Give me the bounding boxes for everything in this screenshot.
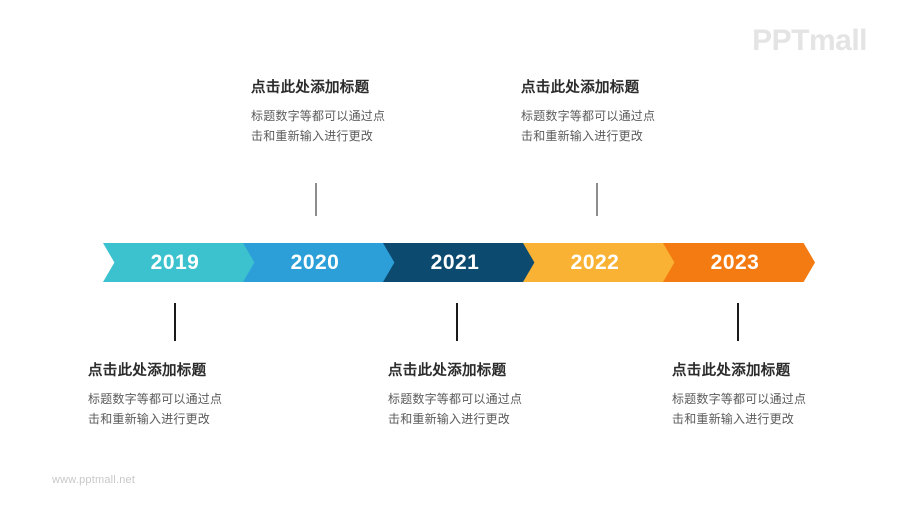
callout-bottom-1: 点击此处添加标题 标题数字等都可以通过点 击和重新输入进行更改 [88, 362, 303, 430]
timeline-bar: 2019 2020 2021 2022 2023 [103, 243, 812, 282]
callout-bottom-3-title: 点击此处添加标题 [672, 362, 887, 382]
callout-bottom-1-title: 点击此处添加标题 [88, 362, 303, 382]
callout-bottom-3: 点击此处添加标题 标题数字等都可以通过点 击和重新输入进行更改 [672, 362, 887, 430]
callout-bottom-2-line2: 击和重新输入进行更改 [388, 409, 603, 430]
callout-top-2: 点击此处添加标题 标题数字等都可以通过点 击和重新输入进行更改 [521, 79, 736, 147]
timeline-segment-2019-label: 2019 [151, 251, 200, 275]
timeline-segment-2023-label: 2023 [711, 251, 760, 275]
callout-bottom-3-line2: 击和重新输入进行更改 [672, 409, 887, 430]
connector-line-top-1 [315, 183, 317, 216]
connector-line-bottom-2 [456, 303, 458, 341]
logo-prefix-text: PPT [752, 24, 809, 57]
connector-line-top-2 [596, 183, 598, 216]
connector-line-bottom-3 [737, 303, 739, 341]
callout-bottom-3-line1: 标题数字等都可以通过点 [672, 389, 887, 410]
callout-bottom-1-line2: 击和重新输入进行更改 [88, 409, 303, 430]
callout-top-1-line2: 击和重新输入进行更改 [251, 126, 466, 147]
callout-top-1-line1: 标题数字等都可以通过点 [251, 106, 466, 127]
callout-top-2-line1: 标题数字等都可以通过点 [521, 106, 736, 127]
callout-bottom-2-title: 点击此处添加标题 [388, 362, 603, 382]
timeline-segment-2020[interactable]: 2020 [243, 243, 395, 282]
timeline-segment-2019[interactable]: 2019 [103, 243, 255, 282]
callout-top-1: 点击此处添加标题 标题数字等都可以通过点 击和重新输入进行更改 [251, 79, 466, 147]
callout-bottom-2: 点击此处添加标题 标题数字等都可以通过点 击和重新输入进行更改 [388, 362, 603, 430]
timeline-segment-2020-label: 2020 [291, 251, 340, 275]
callout-top-2-title: 点击此处添加标题 [521, 79, 736, 99]
timeline-segment-2021[interactable]: 2021 [383, 243, 535, 282]
timeline-segment-2022[interactable]: 2022 [523, 243, 675, 282]
logo-suffix-text: mall [809, 24, 867, 57]
callout-top-1-title: 点击此处添加标题 [251, 79, 466, 99]
connector-line-bottom-1 [174, 303, 176, 341]
callout-bottom-1-line1: 标题数字等都可以通过点 [88, 389, 303, 410]
footer-url: www.pptmall.net [52, 474, 135, 486]
timeline-segment-2022-label: 2022 [571, 251, 620, 275]
timeline-segment-2021-label: 2021 [431, 251, 480, 275]
pptmall-logo: PPTmall [752, 24, 867, 58]
callout-bottom-2-line1: 标题数字等都可以通过点 [388, 389, 603, 410]
timeline-segment-2023[interactable]: 2023 [663, 243, 815, 282]
callout-top-2-line2: 击和重新输入进行更改 [521, 126, 736, 147]
